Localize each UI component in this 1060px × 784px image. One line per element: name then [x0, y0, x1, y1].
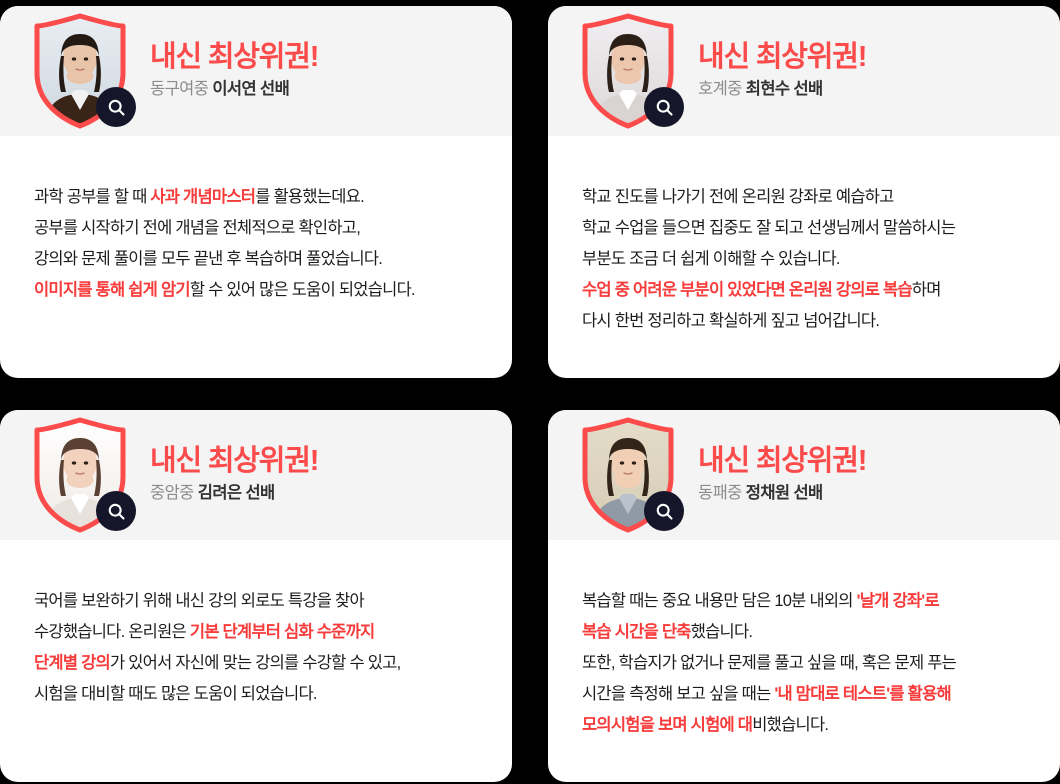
avatar[interactable]: [576, 417, 680, 533]
search-icon[interactable]: [644, 491, 684, 531]
student-school: 중암중: [150, 484, 194, 502]
card-subtitle: 중암중 김려은 선배: [150, 485, 318, 502]
card-subtitle: 호계중 최현수 선배: [698, 81, 866, 98]
testimonial-text: 비했습니다.: [752, 716, 828, 734]
card-header: 내신 최상위권! 동패중 정채원 선배: [548, 410, 1060, 540]
card-title: 내신 최상위권!: [150, 447, 318, 476]
testimonial-card[interactable]: 내신 최상위권! 호계중 최현수 선배 학교 진도를 나가기 전에 온리원 강좌…: [548, 6, 1060, 378]
testimonial-text: 복습할 때는 중요 내용만 담은 10분 내외의: [582, 592, 857, 610]
testimonial-card[interactable]: 내신 최상위권! 동패중 정채원 선배 복습할 때는 중요 내용만 담은 10분…: [548, 410, 1060, 782]
avatar[interactable]: [576, 13, 680, 129]
testimonial-paragraph: 과학 공부를 할 때 사과 개념마스터를 활용했는데요. 공부를 시작하기 전에…: [34, 182, 478, 306]
card-body: 국어를 보완하기 위해 내신 강의 외로도 특강을 찾아 수강했습니다. 온리원…: [0, 540, 512, 782]
student-name: 김려은 선배: [198, 484, 275, 502]
student-school: 동구여중: [150, 80, 208, 98]
avatar[interactable]: [28, 417, 132, 533]
card-body: 학교 진도를 나가기 전에 온리원 강좌로 예습하고 학교 수업을 들으면 집중…: [548, 136, 1060, 378]
testimonial-text: 할 수 있어 많은 도움이 되었습니다.: [190, 281, 415, 299]
card-title: 내신 최상위권!: [150, 43, 318, 72]
search-icon[interactable]: [644, 87, 684, 127]
card-header-text: 내신 최상위권! 호계중 최현수 선배: [698, 43, 866, 100]
testimonial-highlight: 수업 중 어려운 부분이 있었다면 온리원 강의로 복습: [582, 281, 912, 299]
avatar[interactable]: [28, 13, 132, 129]
card-subtitle: 동패중 정채원 선배: [698, 485, 866, 502]
testimonial-card[interactable]: 내신 최상위권! 중암중 김려은 선배 국어를 보완하기 위해 내신 강의 외로…: [0, 410, 512, 782]
student-name: 최현수 선배: [746, 80, 823, 98]
search-icon[interactable]: [96, 87, 136, 127]
testimonial-card[interactable]: 내신 최상위권! 동구여중 이서연 선배 과학 공부를 할 때 사과 개념마스터…: [0, 6, 512, 378]
testimonial-card-grid: 내신 최상위권! 동구여중 이서연 선배 과학 공부를 할 때 사과 개념마스터…: [0, 0, 1060, 784]
student-name: 정채원 선배: [746, 484, 823, 502]
card-body: 복습할 때는 중요 내용만 담은 10분 내외의 '날개 강좌'로 복습 시간을…: [548, 540, 1060, 782]
card-header-text: 내신 최상위권! 중암중 김려은 선배: [150, 447, 318, 504]
testimonial-highlight: 사과 개념마스터: [150, 188, 255, 206]
search-icon[interactable]: [96, 491, 136, 531]
card-title: 내신 최상위권!: [698, 43, 866, 72]
card-header-text: 내신 최상위권! 동구여중 이서연 선배: [150, 43, 318, 100]
card-header-text: 내신 최상위권! 동패중 정채원 선배: [698, 447, 866, 504]
card-title: 내신 최상위권!: [698, 447, 866, 476]
card-header: 내신 최상위권! 동구여중 이서연 선배: [0, 6, 512, 136]
card-subtitle: 동구여중 이서연 선배: [150, 81, 318, 98]
testimonial-highlight: 이미지를 통해 쉽게 암기: [34, 281, 190, 299]
card-header: 내신 최상위권! 호계중 최현수 선배: [548, 6, 1060, 136]
card-header: 내신 최상위권! 중암중 김려은 선배: [0, 410, 512, 540]
student-name: 이서연 선배: [212, 80, 289, 98]
testimonial-paragraph: 국어를 보완하기 위해 내신 강의 외로도 특강을 찾아 수강했습니다. 온리원…: [34, 586, 478, 710]
testimonial-text: 과학 공부를 할 때: [34, 188, 150, 206]
student-school: 동패중: [698, 484, 742, 502]
testimonial-paragraph: 학교 진도를 나가기 전에 온리원 강좌로 예습하고 학교 수업을 들으면 집중…: [582, 182, 1026, 337]
testimonial-paragraph: 복습할 때는 중요 내용만 담은 10분 내외의 '날개 강좌'로 복습 시간을…: [582, 586, 1026, 741]
student-school: 호계중: [698, 80, 742, 98]
testimonial-text: 학교 진도를 나가기 전에 온리원 강좌로 예습하고 학교 수업을 들으면 집중…: [582, 188, 955, 268]
card-body: 과학 공부를 할 때 사과 개념마스터를 활용했는데요. 공부를 시작하기 전에…: [0, 136, 512, 378]
